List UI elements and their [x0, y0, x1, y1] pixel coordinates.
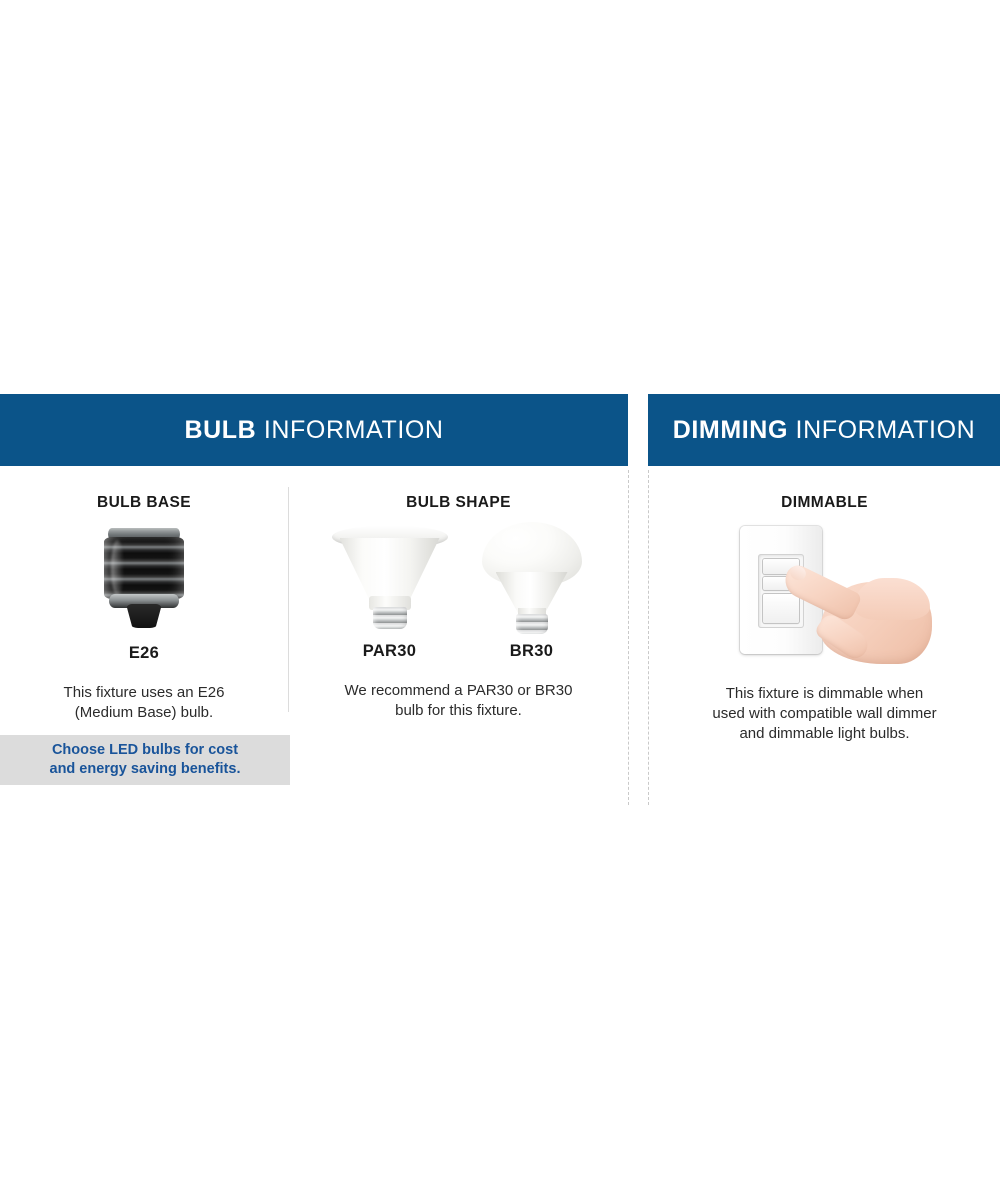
br30-label: BR30 — [478, 642, 586, 661]
bulb-base-column: BULB BASE E26 This fixture uses an E26 (… — [0, 494, 288, 723]
bulb-information-title-rest: INFORMATION — [256, 416, 443, 444]
bulb-base-description: This fixture uses an E26 (Medium Base) b… — [0, 683, 288, 723]
e26-threads — [104, 537, 184, 599]
led-callout-line2: and energy saving benefits. — [50, 760, 241, 779]
bulb-base-description-line1: This fixture uses an E26 — [0, 683, 288, 703]
dimming-information-title-rest: INFORMATION — [788, 416, 975, 444]
par30-body — [340, 538, 440, 600]
dimming-information-header: DIMMING INFORMATION — [648, 394, 1000, 466]
bulb-shape-description: We recommend a PAR30 or BR30 bulb for th… — [289, 681, 628, 721]
dimming-information-title: DIMMING INFORMATION — [673, 416, 976, 445]
bulb-shape-column: BULB SHAPE PAR30 BR30 We recommend a PAR… — [289, 494, 628, 721]
bulb-base-item-label: E26 — [0, 644, 288, 663]
hand-icon — [784, 552, 934, 664]
bulb-shape-art-row: PAR30 BR30 — [289, 522, 628, 661]
br30-item: BR30 — [478, 522, 586, 661]
bulb-information-title: BULB INFORMATION — [184, 416, 443, 445]
bulb-shape-title: BULB SHAPE — [289, 494, 628, 512]
par30-label: PAR30 — [332, 642, 448, 661]
panel-dashed-divider-left — [628, 470, 629, 805]
dimmable-column: DIMMABLE This fixture is dimmable when u… — [649, 494, 1000, 744]
par30-item: PAR30 — [332, 522, 448, 661]
par30-bulb-icon — [332, 522, 448, 630]
dimmable-title: DIMMABLE — [649, 494, 1000, 512]
bulb-base-title: BULB BASE — [0, 494, 288, 512]
dimmable-description: This fixture is dimmable when used with … — [649, 684, 1000, 744]
e26-tip — [126, 604, 162, 628]
bulb-information-header: BULB INFORMATION — [0, 394, 628, 466]
bulb-base-description-line2: (Medium Base) bulb. — [0, 703, 288, 723]
br30-bulb-icon — [478, 522, 586, 634]
dimmable-description-line3: and dimmable light bulbs. — [649, 724, 1000, 744]
hand-knuckles — [854, 578, 930, 620]
br30-screw-base — [516, 614, 548, 634]
par30-screw-base — [373, 607, 407, 629]
dimmable-description-line1: This fixture is dimmable when — [649, 684, 1000, 704]
bulb-shape-description-line2: bulb for this fixture. — [289, 701, 628, 721]
bulb-information-title-strong: BULB — [184, 416, 256, 444]
e26-screw-base-icon — [102, 528, 186, 628]
dimming-information-title-strong: DIMMING — [673, 416, 788, 444]
section-headers: BULB INFORMATION DIMMING INFORMATION — [0, 394, 1000, 466]
bulb-shape-description-line1: We recommend a PAR30 or BR30 — [289, 681, 628, 701]
led-callout-text: Choose LED bulbs for cost and energy sav… — [50, 741, 241, 779]
led-callout-box: Choose LED bulbs for cost and energy sav… — [0, 735, 290, 785]
wall-dimmer-switch-icon — [710, 526, 940, 666]
led-callout-line1: Choose LED bulbs for cost — [50, 741, 241, 760]
dimmable-description-line2: used with compatible wall dimmer — [649, 704, 1000, 724]
